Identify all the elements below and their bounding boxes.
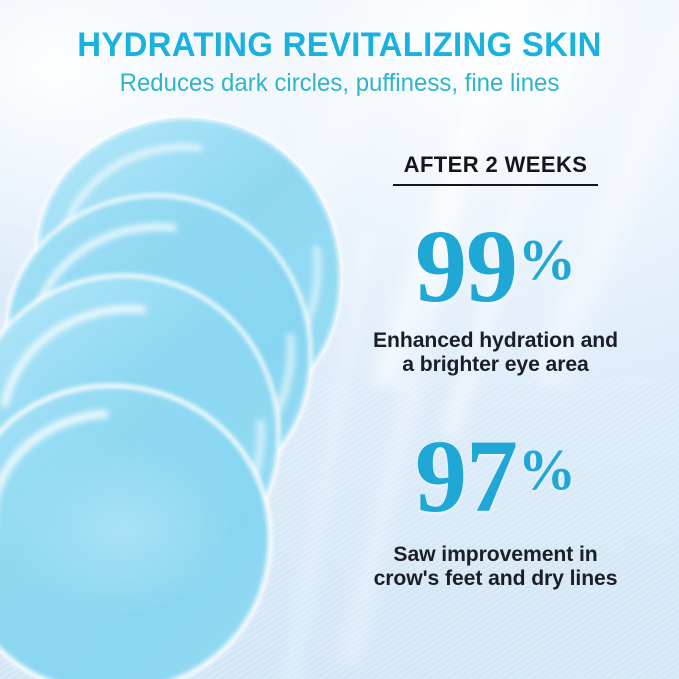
eye-patch-stack-graphic bbox=[0, 96, 360, 676]
stat-block-hydration: 99% Enhanced hydration and a brighter ey… bbox=[312, 218, 679, 377]
percent-sign: % bbox=[518, 227, 576, 292]
page-title: HYDRATING REVITALIZING SKIN bbox=[15, 26, 663, 65]
after-duration-label: AFTER 2 WEEKS bbox=[312, 152, 679, 186]
product-infographic-poster: HYDRATING REVITALIZING SKIN Reduces dark… bbox=[0, 0, 679, 679]
page-subtitle: Reduces dark circles, puffiness, fine li… bbox=[14, 69, 666, 98]
stat-caption: Saw improvement in crow's feet and dry l… bbox=[315, 542, 676, 591]
stat-block-crows-feet: 97% Saw improvement in crow's feet and d… bbox=[312, 428, 679, 591]
stat-caption-line: Saw improvement in bbox=[315, 542, 676, 567]
stat-caption: Enhanced hydration and a brighter eye ar… bbox=[315, 328, 676, 377]
stat-caption-line: crow's feet and dry lines bbox=[315, 566, 676, 591]
stat-caption-line: a brighter eye area bbox=[315, 352, 676, 377]
stat-number: 97 bbox=[415, 419, 517, 534]
stat-number: 99 bbox=[415, 209, 517, 324]
percent-sign: % bbox=[518, 437, 576, 502]
after-duration-text: AFTER 2 WEEKS bbox=[404, 152, 588, 177]
stat-caption-line: Enhanced hydration and bbox=[315, 328, 676, 353]
after-duration-underline bbox=[393, 184, 598, 186]
text-content-column: HYDRATING REVITALIZING SKIN Reduces dark… bbox=[312, 0, 679, 679]
stat-figure: 99% bbox=[312, 218, 679, 316]
stat-figure: 97% bbox=[312, 428, 679, 526]
